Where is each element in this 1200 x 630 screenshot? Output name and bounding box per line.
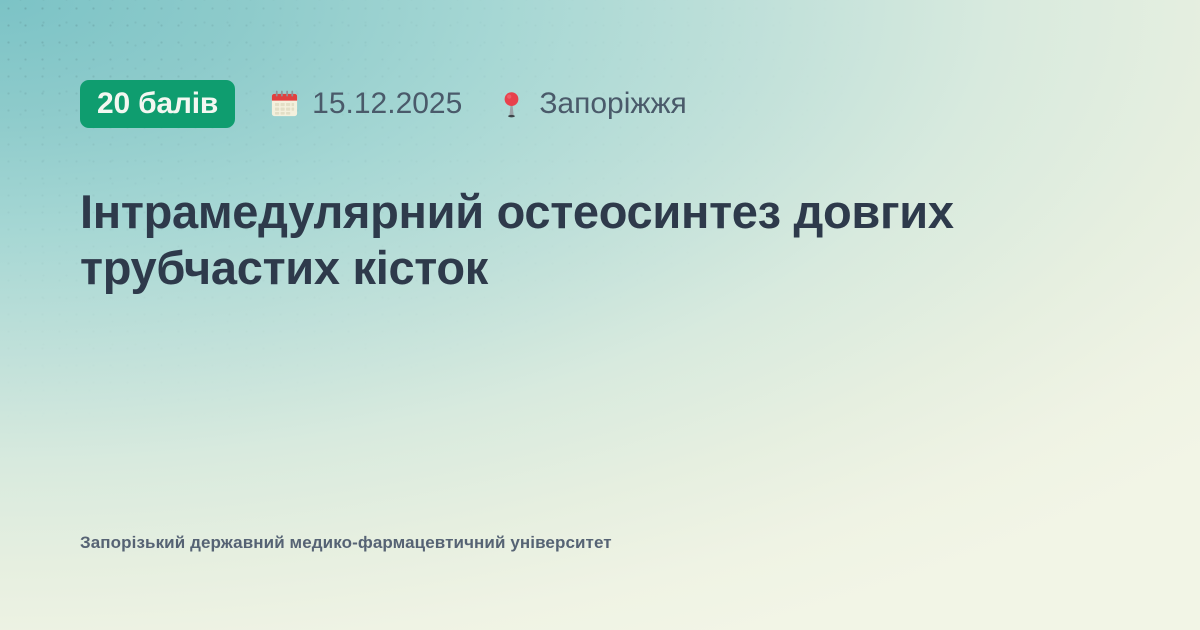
map-pin-icon — [496, 89, 527, 120]
points-badge: 20 балів — [80, 80, 235, 128]
event-date-label: 15.12.2025 — [312, 89, 462, 119]
organization-name: Запорізький державний медико-фармацевтич… — [80, 532, 612, 554]
meta-row: 20 балів — [80, 80, 1120, 128]
event-date: 15.12.2025 — [269, 89, 462, 120]
page-title: Інтрамедулярний остеосинтез довгих трубч… — [80, 128, 1120, 296]
calendar-icon — [269, 89, 300, 120]
event-location-label: Запоріжжя — [539, 89, 686, 119]
event-card: 20 балів — [0, 0, 1200, 630]
event-location: Запоріжжя — [496, 89, 686, 120]
